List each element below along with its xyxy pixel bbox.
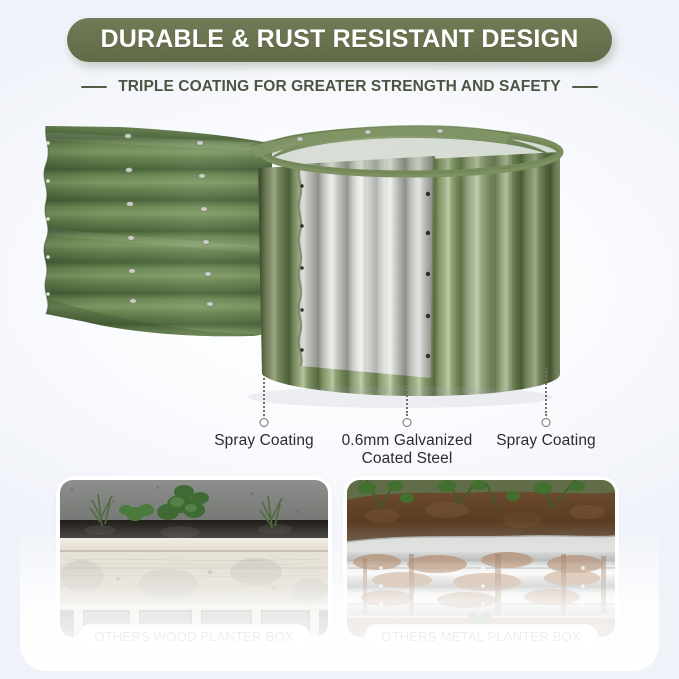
banner-title: DURABLE & RUST RESISTANT DESIGN — [101, 26, 579, 52]
comparison-section: OTHERS WOOD PLANTER BOX — [0, 480, 679, 650]
product-illustration — [0, 108, 679, 418]
dash-right-icon — [572, 86, 598, 88]
comparison-panel-metal: OTHERS METAL PLANTER BOX — [347, 480, 615, 637]
subtitle-row: TRIPLE COATING FOR GREATER STRENGTH AND … — [0, 78, 679, 96]
callout-group: Spray Coating 0.6mm Galvanized Coated St… — [0, 384, 679, 474]
comparison-panel-wood: OTHERS WOOD PLANTER BOX — [60, 480, 328, 637]
panel-label: OTHERS METAL PLANTER BOX — [364, 624, 598, 650]
header: DURABLE & RUST RESISTANT DESIGN TRIPLE C… — [0, 18, 679, 96]
dash-left-icon — [81, 86, 107, 88]
leader-dot-icon — [403, 418, 412, 427]
leader-line — [545, 368, 547, 416]
infographic-page: DURABLE & RUST RESISTANT DESIGN TRIPLE C… — [0, 0, 679, 679]
galvanized-steel-cutaway — [290, 148, 450, 388]
header-banner: DURABLE & RUST RESISTANT DESIGN — [67, 18, 613, 62]
rusty-metal-planter-photo — [347, 480, 615, 637]
leader-dot-icon — [542, 418, 551, 427]
panel-label: OTHERS WOOD PLANTER BOX — [77, 624, 310, 650]
product-svg — [0, 108, 679, 418]
header-subtitle: TRIPLE COATING FOR GREATER STRENGTH AND … — [118, 78, 561, 96]
flat-corrugated-panel — [30, 118, 290, 348]
callout-label: 0.6mm Galvanized Coated Steel — [322, 432, 492, 469]
callout-label: Spray Coating — [214, 432, 314, 450]
cylinder-top-rim — [250, 126, 560, 174]
leader-line — [263, 374, 265, 416]
weathered-wood-planter-photo — [60, 480, 328, 637]
callout-label: Spray Coating — [496, 432, 596, 450]
leader-dot-icon — [260, 418, 269, 427]
leader-line — [406, 380, 408, 416]
